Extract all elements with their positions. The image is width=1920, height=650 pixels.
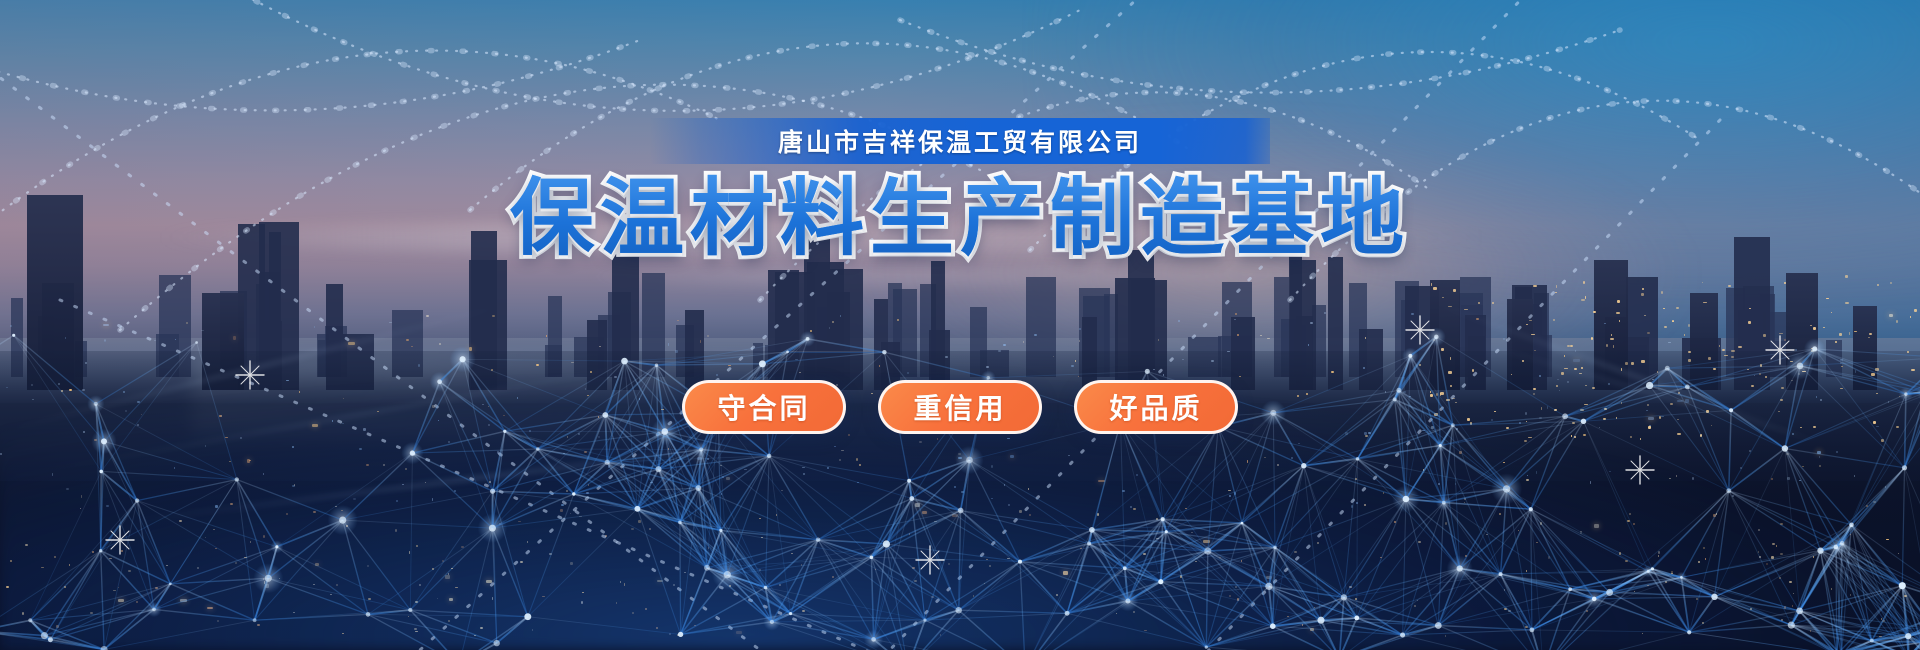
headline-text-outline: 保温材料生产制造基地 [510,172,1410,264]
banner-content: 唐山市吉祥保温工贸有限公司 保温材料生产制造基地 保温材料生产制造基地 守合同 … [0,0,1920,650]
feature-tag-list: 守合同 重信用 好品质 [682,380,1238,434]
feature-tag-contract[interactable]: 守合同 [682,380,846,434]
feature-tag-label: 好品质 [1109,387,1202,427]
hero-banner: 唐山市吉祥保温工贸有限公司 保温材料生产制造基地 保温材料生产制造基地 守合同 … [0,0,1920,650]
company-name-text: 唐山市吉祥保温工贸有限公司 [778,123,1142,159]
feature-tag-label: 守合同 [717,387,810,427]
company-name-band: 唐山市吉祥保温工贸有限公司 [650,118,1270,164]
feature-tag-credit[interactable]: 重信用 [878,380,1042,434]
feature-tag-quality[interactable]: 好品质 [1074,380,1238,434]
feature-tag-label: 重信用 [913,387,1006,427]
